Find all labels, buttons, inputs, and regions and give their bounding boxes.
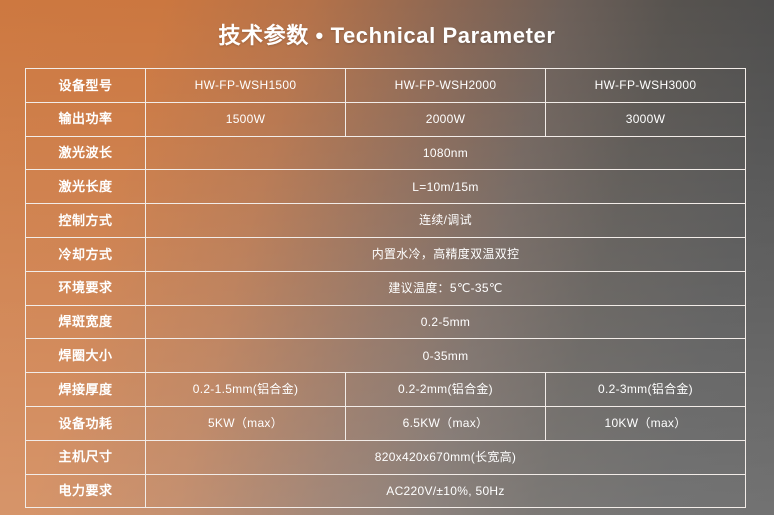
- page-title: 技术参数 • Technical Parameter: [218, 18, 555, 50]
- row-label: 焊圈大小: [26, 339, 146, 373]
- table-row: 焊接厚度0.2-1.5mm(铝合金)0.2-2mm(铝合金)0.2-3mm(铝合…: [26, 373, 746, 407]
- table-row: 激光长度L=10m/15m: [26, 170, 746, 204]
- row-label: 控制方式: [26, 204, 146, 238]
- row-value: 5KW（max）: [146, 406, 346, 440]
- row-label: 冷却方式: [26, 237, 146, 271]
- table-row: 焊斑宽度0.2-5mm: [26, 305, 746, 339]
- row-label: 激光长度: [26, 170, 146, 204]
- table-row: 焊圈大小0-35mm: [26, 339, 746, 373]
- row-value: 建议温度：5℃-35℃: [146, 271, 746, 305]
- row-label: 设备功耗: [26, 406, 146, 440]
- row-value: 10KW（max）: [546, 406, 746, 440]
- row-value: 6.5KW（max）: [346, 406, 546, 440]
- table-body: 设备型号HW-FP-WSH1500HW-FP-WSH2000HW-FP-WSH3…: [26, 69, 746, 508]
- row-label: 焊斑宽度: [26, 305, 146, 339]
- row-value: L=10m/15m: [146, 170, 746, 204]
- row-label: 激光波长: [26, 136, 146, 170]
- row-label: 输出功率: [26, 102, 146, 136]
- row-value: 0.2-2mm(铝合金): [346, 373, 546, 407]
- row-label: 环境要求: [26, 271, 146, 305]
- row-value: HW-FP-WSH3000: [546, 69, 746, 103]
- technical-parameter-table: 设备型号HW-FP-WSH1500HW-FP-WSH2000HW-FP-WSH3…: [25, 68, 746, 508]
- row-value: 连续/调试: [146, 204, 746, 238]
- row-value: 1500W: [146, 102, 346, 136]
- row-value: 内置水冷，高精度双温双控: [146, 237, 746, 271]
- row-value: 0.2-5mm: [146, 305, 746, 339]
- table-row: 环境要求建议温度：5℃-35℃: [26, 271, 746, 305]
- table-row: 冷却方式内置水冷，高精度双温双控: [26, 237, 746, 271]
- row-value: 3000W: [546, 102, 746, 136]
- row-value: 820x420x670mm(长宽高): [146, 440, 746, 474]
- row-label: 主机尺寸: [26, 440, 146, 474]
- row-label: 电力要求: [26, 474, 146, 508]
- table-row: 激光波长1080nm: [26, 136, 746, 170]
- table-row: 设备功耗5KW（max）6.5KW（max）10KW（max）: [26, 406, 746, 440]
- row-value: 0.2-1.5mm(铝合金): [146, 373, 346, 407]
- table-row: 设备型号HW-FP-WSH1500HW-FP-WSH2000HW-FP-WSH3…: [26, 69, 746, 103]
- row-label: 焊接厚度: [26, 373, 146, 407]
- title-bar: 技术参数 • Technical Parameter: [0, 0, 774, 68]
- row-label: 设备型号: [26, 69, 146, 103]
- table-row: 电力要求AC220V/±10%, 50Hz: [26, 474, 746, 508]
- slide-root: 技术参数 • Technical Parameter 设备型号HW-FP-WSH…: [0, 0, 774, 515]
- table-row: 控制方式连续/调试: [26, 204, 746, 238]
- table-row: 主机尺寸820x420x670mm(长宽高): [26, 440, 746, 474]
- row-value: 2000W: [346, 102, 546, 136]
- row-value: HW-FP-WSH1500: [146, 69, 346, 103]
- row-value: HW-FP-WSH2000: [346, 69, 546, 103]
- row-value: AC220V/±10%, 50Hz: [146, 474, 746, 508]
- table-row: 输出功率1500W2000W3000W: [26, 102, 746, 136]
- row-value: 0-35mm: [146, 339, 746, 373]
- row-value: 0.2-3mm(铝合金): [546, 373, 746, 407]
- row-value: 1080nm: [146, 136, 746, 170]
